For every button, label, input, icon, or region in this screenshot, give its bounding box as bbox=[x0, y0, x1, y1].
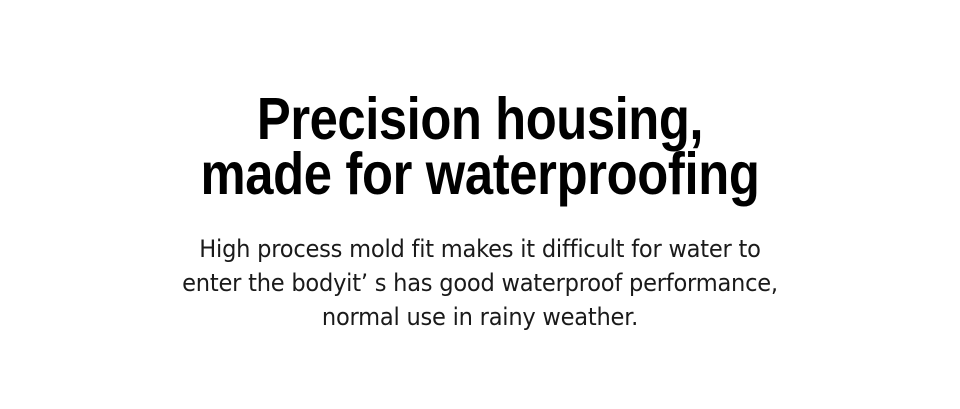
subcopy-paragraph: High process mold fit makes it difficult… bbox=[29, 232, 931, 334]
subcopy-line-3: normal use in rainy weather. bbox=[29, 300, 931, 334]
product-feature-banner: Precision housing, made for waterproofin… bbox=[0, 0, 960, 409]
headline-line-2: made for waterproofing bbox=[67, 147, 893, 202]
page-title: Precision housing, made for waterproofin… bbox=[67, 92, 893, 202]
subcopy-line-1: High process mold fit makes it difficult… bbox=[29, 232, 931, 266]
subcopy-line-2: enter the bodyit’ s has good waterproof … bbox=[29, 266, 931, 300]
headline-line-1: Precision housing, bbox=[67, 92, 893, 147]
